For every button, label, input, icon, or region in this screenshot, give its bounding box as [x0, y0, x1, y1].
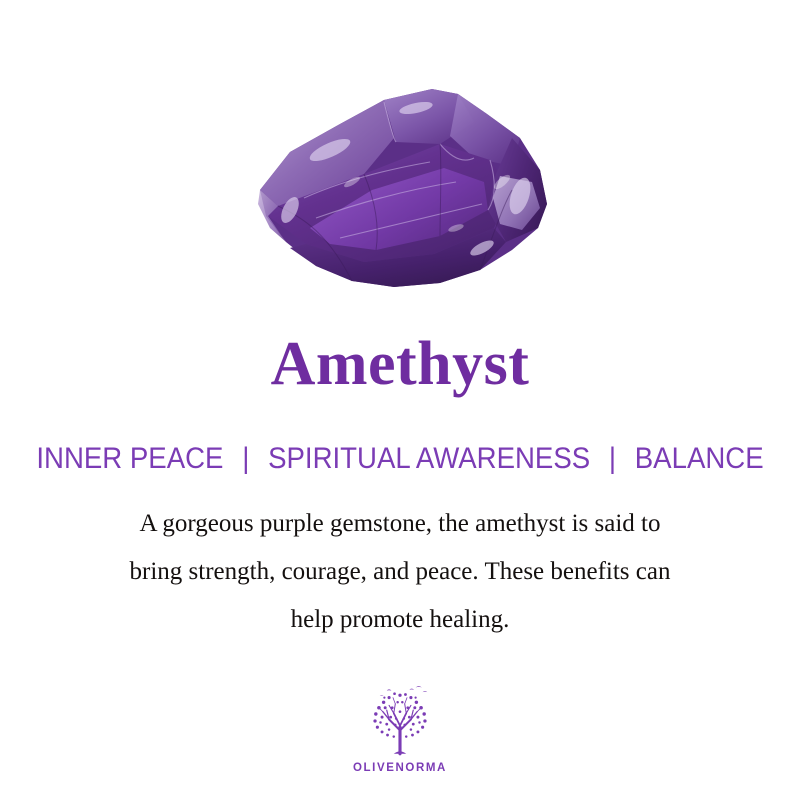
keyword-balance: BALANCE	[635, 442, 764, 475]
description-line-1: A gorgeous purple gemstone, the amethyst…	[60, 500, 740, 548]
gemstone-image-area	[0, 0, 800, 320]
keyword-list: INNER PEACE | SPIRITUAL AWARENESS | BALA…	[32, 443, 768, 475]
amethyst-raw-crystal	[244, 78, 556, 293]
tree-birds	[380, 686, 428, 696]
description-line-3: help promote healing.	[60, 596, 740, 644]
keyword-spiritual-awareness: SPIRITUAL AWARENESS	[268, 442, 590, 475]
keyword-inner-peace: INNER PEACE	[36, 442, 223, 475]
brand-name: OLIVENORMA	[353, 762, 447, 774]
brand-logo-block: OLIVENORMA	[0, 682, 800, 774]
tree-root-base	[394, 751, 406, 753]
description-text: A gorgeous purple gemstone, the amethyst…	[60, 500, 740, 644]
description-line-2: bring strength, courage, and peace. Thes…	[60, 548, 740, 596]
keyword-separator-2: |	[598, 443, 627, 475]
amethyst-info-card: Amethyst INNER PEACE | SPIRITUAL AWARENE…	[0, 0, 800, 800]
olive-tree-logo-icon	[361, 682, 439, 760]
keyword-separator-1: |	[231, 443, 260, 475]
tree-branches	[378, 698, 422, 754]
page-title: Amethyst	[0, 333, 800, 395]
